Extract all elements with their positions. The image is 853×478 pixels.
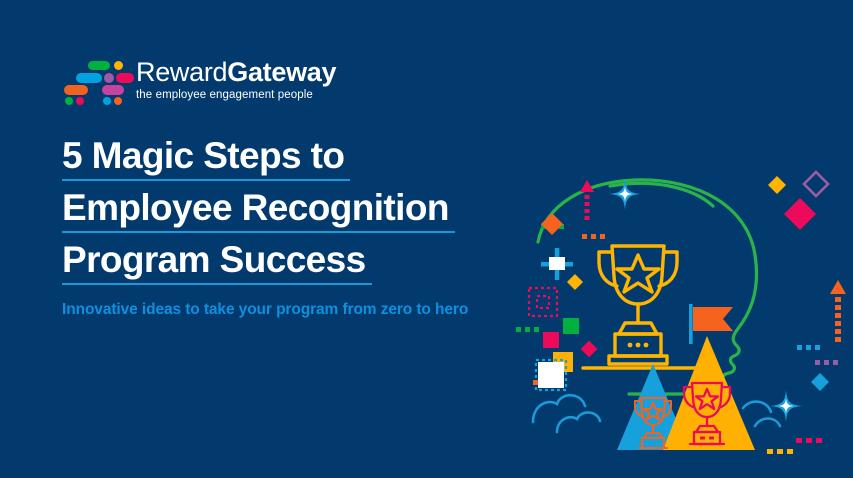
confetti-dashed-white-square [536,360,566,390]
confetti-green-square [563,318,579,334]
headline-line-3: Program Success [62,237,372,285]
headline-underline-1 [62,179,350,181]
confetti-orange-diamond-top [541,213,563,235]
logo-mark-icon [62,59,124,101]
headline-line-1: 5 Magic Steps to [62,133,350,181]
main-trophy-base-dots [628,343,649,348]
confetti-sparkle-white-right [770,390,802,422]
confetti-purple-diamond-outline [804,172,828,196]
confetti-plus-icon [541,248,573,280]
logo-wordmark: RewardGateway the employee engagement pe… [136,58,336,102]
confetti-yellow-dots-bottom [767,449,793,454]
main-trophy-icon [583,246,695,368]
recognition-award-illustration [505,170,853,460]
confetti-orange-dots-trophy [533,380,538,385]
flag-icon [689,304,733,344]
headline-underline-3 [62,283,372,285]
headline-text-2: Employee Recognition [62,185,455,230]
logo-word-light: Reward [136,57,227,87]
confetti-blue-diamond-right [811,373,829,391]
reward-gateway-logo[interactable]: RewardGateway the employee engagement pe… [62,58,336,102]
logo-word-bold: Gateway [227,57,336,87]
headline-underline-2 [62,231,455,233]
headline-line-2: Employee Recognition [62,185,455,233]
logo-word: RewardGateway [136,58,336,87]
confetti-purple-dots-right [815,360,838,365]
subtitle: Innovative ideas to take your program fr… [62,300,582,320]
confetti-orange-dotted-arrow-icon [830,280,846,342]
logo-tagline: the employee engagement people [136,88,336,102]
confetti-pink-diamond-small [582,342,596,356]
confetti-pink-dots-bottom [796,438,822,443]
confetti-pink-square [543,332,559,348]
slide-root: RewardGateway the employee engagement pe… [0,0,853,478]
page-title: 5 Magic Steps to Employee Recognition Pr… [62,133,532,289]
confetti-dashed-square-icon [529,288,557,316]
confetti-orange-dots-top [582,234,605,239]
confetti-orange-diamond-left [567,274,583,290]
confetti-yellow-diamond-right [768,176,786,194]
confetti-blue-dots-right [797,345,820,350]
headline-text-3: Program Success [62,237,372,282]
confetti-green-dots-2 [516,327,539,332]
headline-text-1: 5 Magic Steps to [62,133,350,178]
confetti-pink-diamond-right [784,198,816,230]
